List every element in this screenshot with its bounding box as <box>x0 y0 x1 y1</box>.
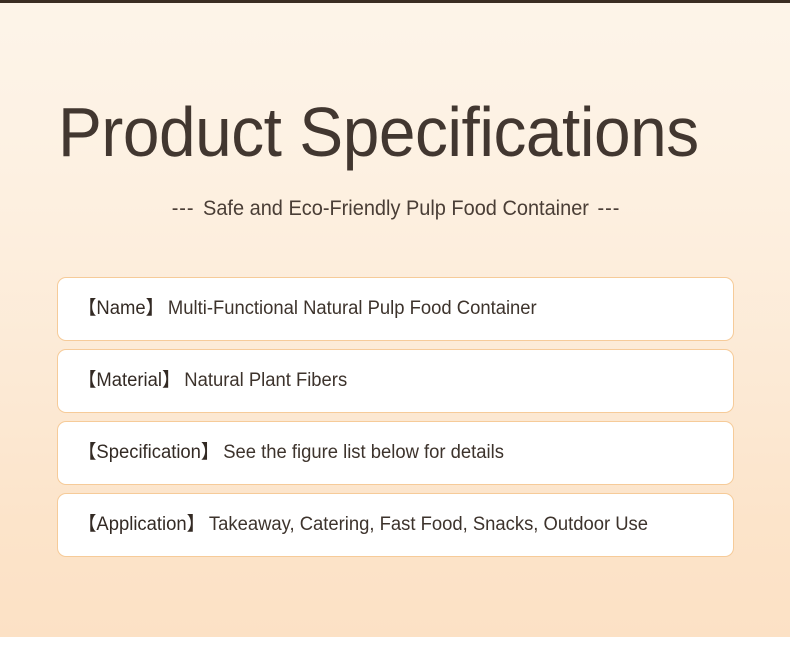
page-title: Product Specifications <box>58 90 707 174</box>
gradient-background-panel: Product Specifications ---Safe and Eco-F… <box>0 0 790 637</box>
top-divider-rule <box>0 0 790 3</box>
spec-value: Takeaway, Catering, Fast Food, Snacks, O… <box>209 514 648 535</box>
spec-row-text: 【Material】Natural Plant Fibers <box>78 368 347 394</box>
subtitle-dash-left: --- <box>172 197 195 220</box>
subtitle-text: Safe and Eco-Friendly Pulp Food Containe… <box>203 197 589 220</box>
spec-row-application: 【Application】Takeaway, Catering, Fast Fo… <box>57 493 734 557</box>
spec-row-name: 【Name】Multi-Functional Natural Pulp Food… <box>57 277 734 341</box>
spec-value: Natural Plant Fibers <box>184 370 347 391</box>
bottom-white-strip <box>0 637 790 651</box>
spec-label: 【Name】 <box>78 298 164 319</box>
spec-label: 【Material】 <box>78 370 180 391</box>
specification-list: 【Name】Multi-Functional Natural Pulp Food… <box>57 277 734 557</box>
product-specification-banner: Product Specifications ---Safe and Eco-F… <box>0 0 790 651</box>
spec-row-text: 【Specification】See the figure list below… <box>78 440 504 466</box>
spec-value: See the figure list below for details <box>223 442 504 463</box>
spec-value: Multi-Functional Natural Pulp Food Conta… <box>168 298 537 319</box>
spec-label: 【Specification】 <box>78 442 219 463</box>
spec-label: 【Application】 <box>78 514 205 535</box>
page-subtitle: ---Safe and Eco-Friendly Pulp Food Conta… <box>75 194 717 224</box>
spec-row-material: 【Material】Natural Plant Fibers <box>57 349 734 413</box>
spec-row-specification: 【Specification】See the figure list below… <box>57 421 734 485</box>
spec-row-text: 【Application】Takeaway, Catering, Fast Fo… <box>78 512 648 538</box>
spec-row-text: 【Name】Multi-Functional Natural Pulp Food… <box>78 296 537 322</box>
subtitle-dash-right: --- <box>598 197 621 220</box>
